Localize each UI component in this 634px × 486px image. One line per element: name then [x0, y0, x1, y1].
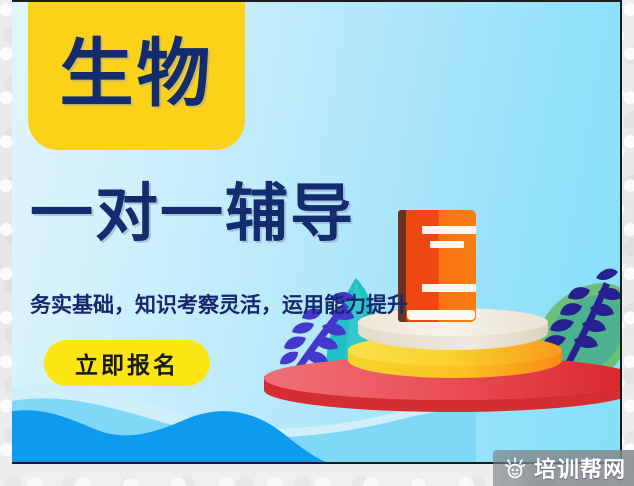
book-title-bar [430, 241, 464, 248]
book-title-bar [422, 284, 476, 292]
banner-tagline: 务实基础，知识考察灵活，运用能力提升 [30, 289, 408, 319]
subject-badge-label: 生物 [60, 25, 214, 111]
site-watermark: 培训帮网 [493, 450, 634, 486]
subject-badge: 生物 [28, 0, 245, 150]
course-promo-banner: 生物 一对一辅导 务实基础，知识考察灵活，运用能力提升 立即报名 [12, 0, 622, 464]
book-pages [407, 310, 475, 320]
textbook-icon [398, 210, 476, 322]
watermark-text: 培训帮网 [534, 452, 626, 484]
book-title-bar [422, 226, 476, 234]
banner-headline: 一对一辅导 [30, 182, 355, 245]
enroll-now-button[interactable]: 立即报名 [44, 340, 210, 386]
screenshot-canvas: 生物 一对一辅导 务实基础，知识考察灵活，运用能力提升 立即报名 培训帮网 [0, 0, 634, 486]
sun-face-icon [503, 456, 527, 480]
book-cover [406, 210, 476, 322]
